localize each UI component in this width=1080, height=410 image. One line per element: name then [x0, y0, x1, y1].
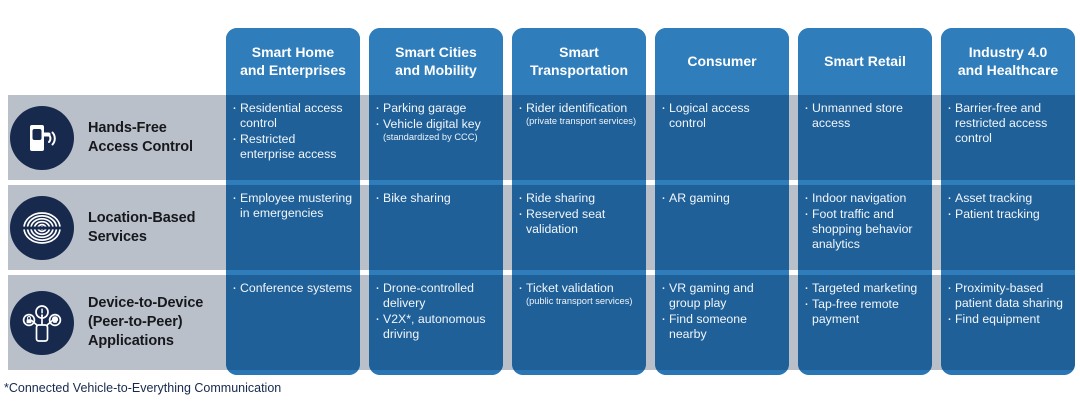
list-item: Foot traffic and shopping behavior analy… — [804, 207, 925, 252]
column-footer — [941, 370, 1075, 375]
list-item: Targeted marketing — [804, 281, 925, 296]
cell-list: Conference systems — [232, 281, 353, 296]
list-item: Unmanned store access — [804, 101, 925, 131]
list-item-note: (public transport services) — [526, 296, 639, 306]
column-header: Consumer — [655, 28, 789, 95]
cell-list: Bike sharing — [375, 191, 496, 206]
cell-r1c2: Ride sharingReserved seat validation — [512, 185, 646, 270]
list-item: Ride sharing — [518, 191, 639, 206]
column-footer — [798, 370, 932, 375]
column-consumer[interactable]: Consumer Logical access control AR gamin… — [655, 28, 789, 375]
cell-list: Parking garageVehicle digital key(standa… — [375, 101, 496, 142]
cell-r2c5: Proximity-based patient data sharingFind… — [941, 275, 1075, 370]
list-item: Asset tracking — [947, 191, 1068, 206]
cell-list: Ride sharingReserved seat validation — [518, 191, 639, 237]
list-item: Employee mustering in emergencies — [232, 191, 353, 221]
application-matrix: Hands-FreeAccess Control Location-BasedS… — [0, 0, 1080, 410]
cell-r0c0: Residential access controlRestricted ent… — [226, 95, 360, 180]
column-header: Smart Homeand Enterprises — [226, 28, 360, 95]
column-smart-home-and-enterprises[interactable]: Smart Homeand Enterprises Residential ac… — [226, 28, 360, 375]
list-item: Tap-free remote payment — [804, 297, 925, 327]
column-smart-cities-and-mobility[interactable]: Smart Citiesand Mobility Parking garageV… — [369, 28, 503, 375]
list-item: Parking garage — [375, 101, 496, 116]
row-label-location-based: Location-BasedServices — [8, 185, 220, 270]
cell-r0c4: Unmanned store access — [798, 95, 932, 180]
column-header: Smart Retail — [798, 28, 932, 95]
list-item: Barrier-free and restricted access contr… — [947, 101, 1068, 146]
cell-r2c3: VR gaming and group playFind someone nea… — [655, 275, 789, 370]
column-footer — [369, 370, 503, 375]
cell-r1c1: Bike sharing — [369, 185, 503, 270]
cell-list: Targeted marketingTap-free remote paymen… — [804, 281, 925, 327]
list-item: Indoor navigation — [804, 191, 925, 206]
cell-list: Indoor navigationFoot traffic and shoppi… — [804, 191, 925, 252]
list-item: Bike sharing — [375, 191, 496, 206]
cell-r1c4: Indoor navigationFoot traffic and shoppi… — [798, 185, 932, 270]
cell-r0c3: Logical access control — [655, 95, 789, 180]
row-title: Hands-FreeAccess Control — [88, 119, 193, 157]
list-item: Find equipment — [947, 312, 1068, 327]
cell-list: Asset trackingPatient tracking — [947, 191, 1068, 222]
cell-list: AR gaming — [661, 191, 782, 206]
cell-r0c2: Rider identification(private transport s… — [512, 95, 646, 180]
cell-list: Unmanned store access — [804, 101, 925, 131]
list-item: Find someone nearby — [661, 312, 782, 342]
row-title: Location-BasedServices — [88, 209, 195, 247]
list-item: Patient tracking — [947, 207, 1068, 222]
cell-r2c0: Conference systems — [226, 275, 360, 370]
row-label-hands-free: Hands-FreeAccess Control — [8, 95, 220, 180]
list-item: VR gaming and group play — [661, 281, 782, 311]
list-item: Proximity-based patient data sharing — [947, 281, 1068, 311]
cell-list: Employee mustering in emergencies — [232, 191, 353, 221]
cell-list: Ticket validation(public transport servi… — [518, 281, 639, 306]
list-item: V2X*, autonomous driving — [375, 312, 496, 342]
list-item: Rider identification(private transport s… — [518, 101, 639, 126]
row-label-device-to-device: Device-to-Device(Peer-to-Peer)Applicatio… — [8, 275, 220, 370]
cell-r2c1: Drone-controlled deliveryV2X*, autonomou… — [369, 275, 503, 370]
cell-r2c2: Ticket validation(public transport servi… — [512, 275, 646, 370]
cell-list: Barrier-free and restricted access contr… — [947, 101, 1068, 146]
list-item: Conference systems — [232, 281, 353, 296]
row-title: Device-to-Device(Peer-to-Peer)Applicatio… — [88, 294, 203, 351]
cell-r0c1: Parking garageVehicle digital key(standa… — [369, 95, 503, 180]
column-footer — [512, 370, 646, 375]
column-smart-transportation[interactable]: SmartTransportation Rider identification… — [512, 28, 646, 375]
radar-waves-icon — [10, 196, 74, 260]
list-item: Vehicle digital key(standardized by CCC) — [375, 117, 496, 142]
footnote: *Connected Vehicle-to-Everything Communi… — [4, 381, 281, 395]
column-footer — [655, 370, 789, 375]
list-item: Residential access control — [232, 101, 353, 131]
cell-r1c3: AR gaming — [655, 185, 789, 270]
cell-list: Rider identification(private transport s… — [518, 101, 639, 126]
list-item: Reserved seat validation — [518, 207, 639, 237]
list-item: Restricted enterprise access — [232, 132, 353, 162]
cell-list: Drone-controlled deliveryV2X*, autonomou… — [375, 281, 496, 342]
list-item-note: (standardized by CCC) — [383, 132, 496, 142]
cell-r0c5: Barrier-free and restricted access contr… — [941, 95, 1075, 180]
cell-list: Proximity-based patient data sharingFind… — [947, 281, 1068, 327]
cell-list: Residential access controlRestricted ent… — [232, 101, 353, 162]
list-item-note: (private transport services) — [526, 116, 639, 126]
column-smart-retail[interactable]: Smart Retail Unmanned store access Indoo… — [798, 28, 932, 375]
cell-list: Logical access control — [661, 101, 782, 131]
cell-r1c0: Employee mustering in emergencies — [226, 185, 360, 270]
column-header: SmartTransportation — [512, 28, 646, 95]
door-handle-wireless-icon — [10, 106, 74, 170]
column-header: Smart Citiesand Mobility — [369, 28, 503, 95]
list-item: Logical access control — [661, 101, 782, 131]
cell-r1c5: Asset trackingPatient tracking — [941, 185, 1075, 270]
list-item: Drone-controlled delivery — [375, 281, 496, 311]
list-item: Ticket validation(public transport servi… — [518, 281, 639, 306]
cell-r2c4: Targeted marketingTap-free remote paymen… — [798, 275, 932, 370]
cell-list: VR gaming and group playFind someone nea… — [661, 281, 782, 342]
column-industry-40-and-healthcare[interactable]: Industry 4.0and Healthcare Barrier-free … — [941, 28, 1075, 375]
column-footer — [226, 370, 360, 375]
column-header: Industry 4.0and Healthcare — [941, 28, 1075, 95]
list-item: AR gaming — [661, 191, 782, 206]
device-to-device-icon — [10, 291, 74, 355]
